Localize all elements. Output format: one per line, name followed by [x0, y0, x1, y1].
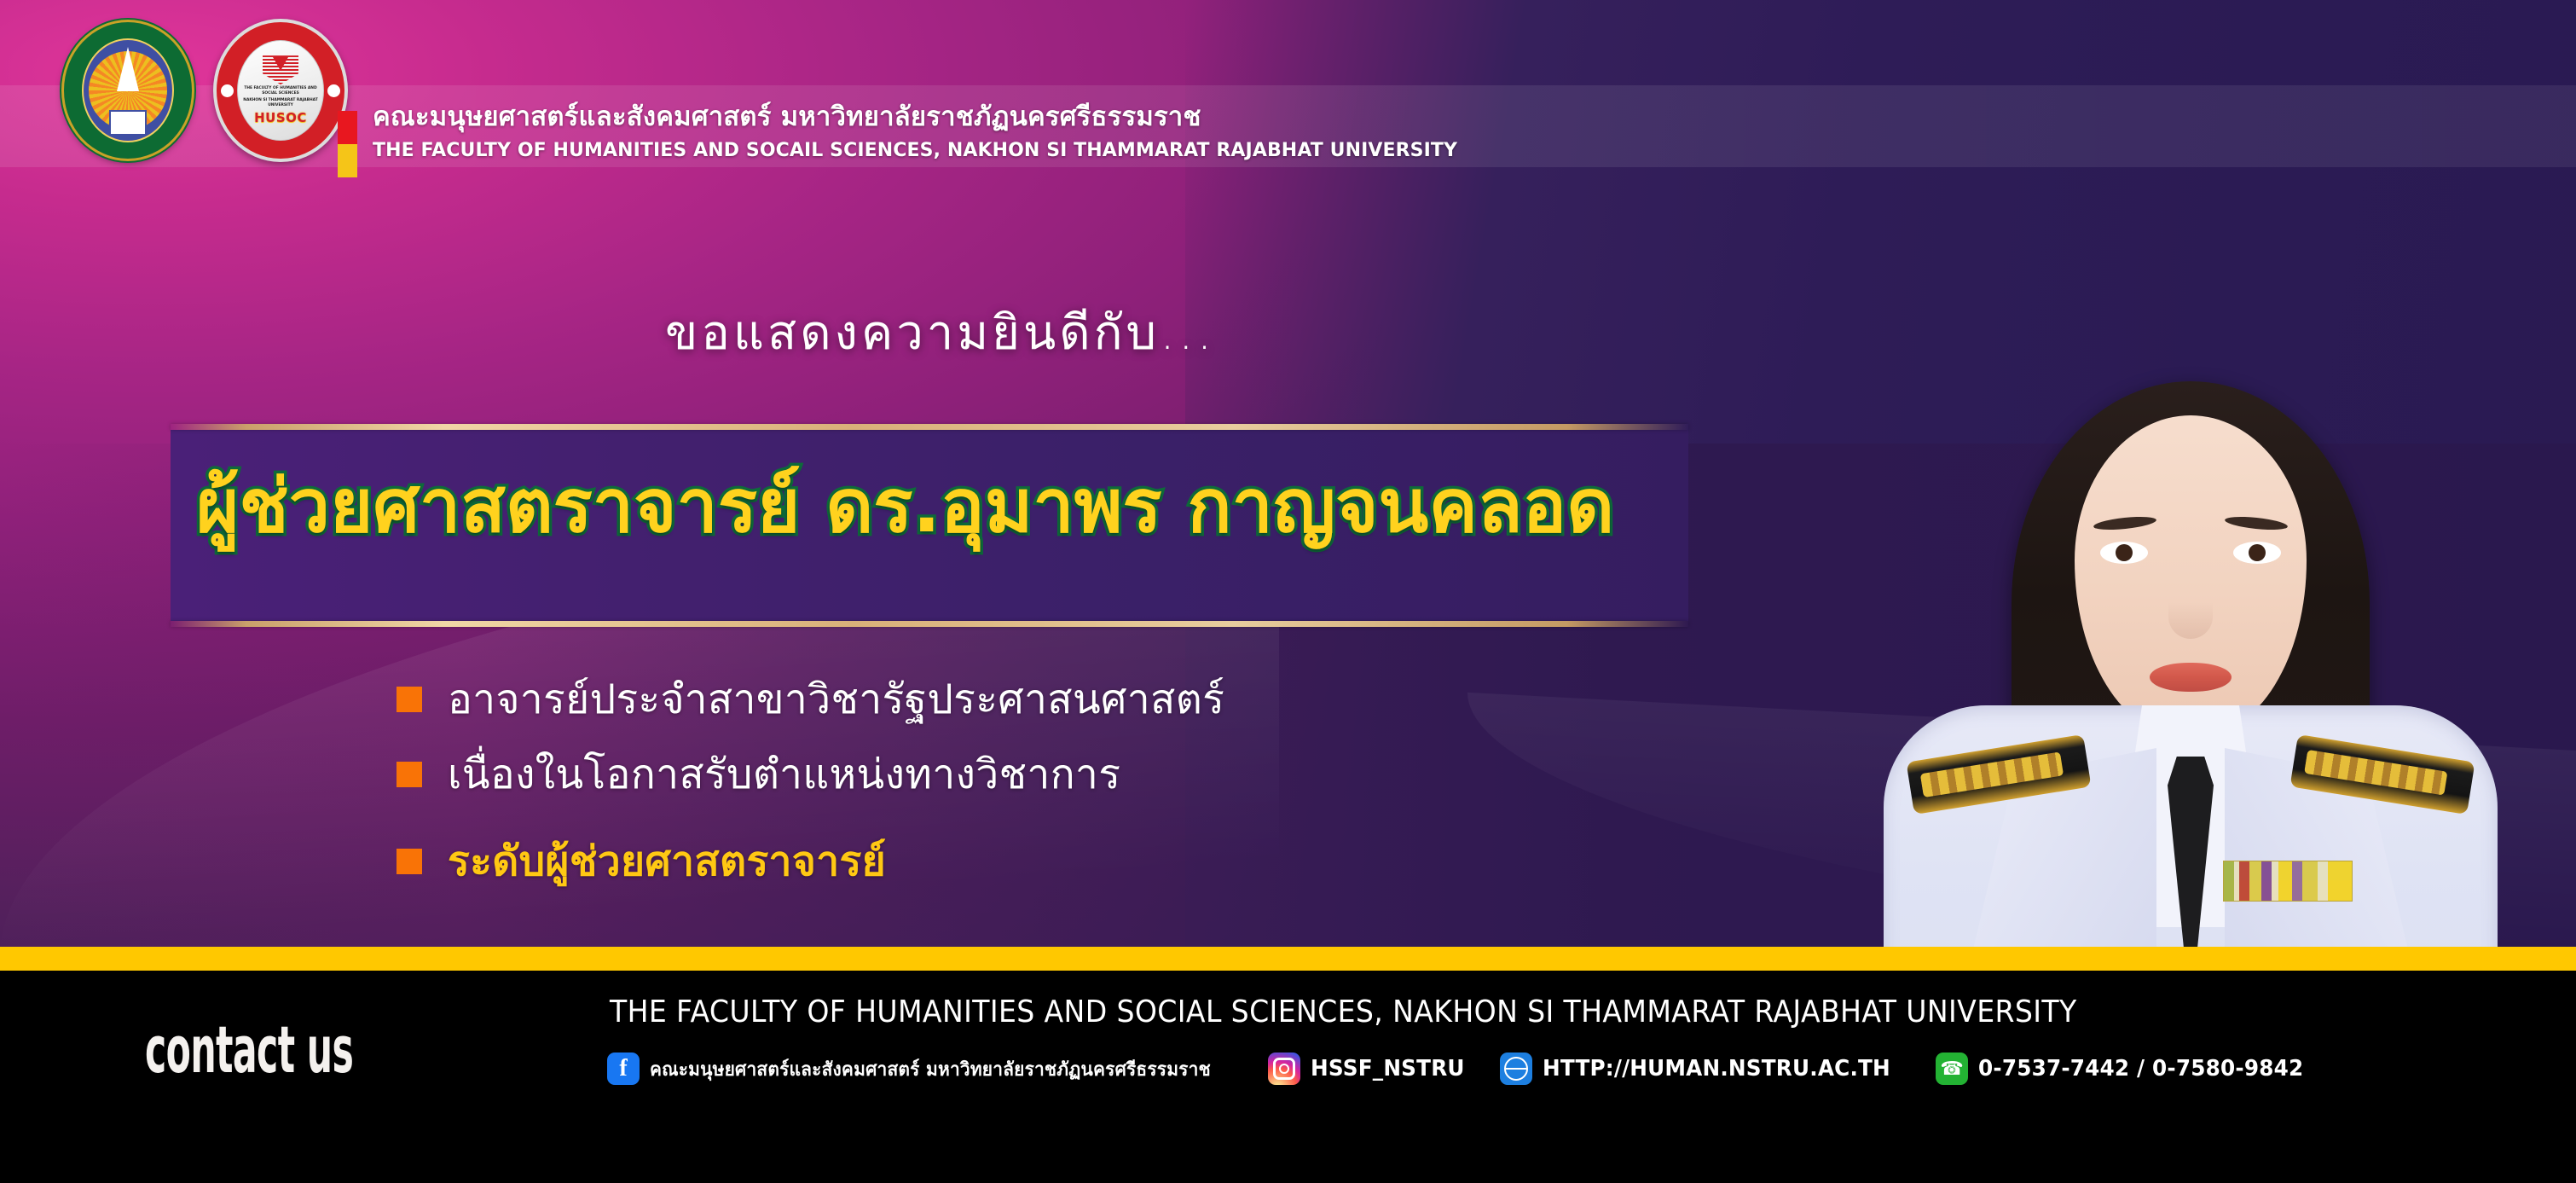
- footer: contact us THE FACULTY OF HUMANITIES AND…: [0, 971, 2576, 1183]
- bullet-label: อาจารย์ประจำสาขาวิชารัฐประศาสนศาสตร์: [448, 667, 1224, 732]
- bullet-list: อาจารย์ประจำสาขาวิชารัฐประศาสนศาสตร์ เนื…: [397, 667, 1224, 904]
- gold-rule-top: [171, 424, 1688, 430]
- bullet-square-icon: [397, 687, 422, 712]
- list-item: เนื่องในโอกาสรับตำแหน่งทางวิชาการ: [397, 742, 1224, 807]
- husoc-emblem-icon: [263, 55, 298, 84]
- congratulation-line: ขอแสดงความยินดีกับ...: [665, 294, 1215, 370]
- contact-instagram[interactable]: HSSF_NSTRU: [1268, 1053, 1473, 1085]
- instagram-label: HSSF_NSTRU: [1311, 1056, 1465, 1082]
- contact-phone[interactable]: ☎ 0-7537-7442 / 0-7580-9842: [1936, 1053, 2320, 1085]
- facebook-label: คณะมนุษยศาสตร์และสังคมศาสตร์ มหาวิทยาลัย…: [650, 1054, 1211, 1084]
- logo-group: THE FACULTY OF HUMANITIES AND SOCIAL SCI…: [61, 19, 348, 162]
- phone-icon[interactable]: ☎: [1936, 1053, 1968, 1085]
- portrait-eye-left: [2100, 542, 2148, 564]
- globe-icon[interactable]: [1500, 1053, 1532, 1085]
- header-thai-title: คณะมนุษยศาสตร์และสังคมศาสตร์ มหาวิทยาลัย…: [373, 102, 1457, 133]
- yellow-divider-bar: [0, 947, 2576, 971]
- portrait-eye-right: [2233, 542, 2281, 564]
- footer-contact-row: f คณะมนุษยศาสตร์และสังคมศาสตร์ มหาวิทยาล…: [607, 1053, 2321, 1085]
- portrait-lips: [2150, 663, 2232, 692]
- husoc-seal-line1: THE FACULTY OF HUMANITIES AND SOCIAL SCI…: [238, 86, 323, 96]
- honoree-name: ผู้ช่วยศาสตราจารย์ ดร.อุมาพร กาญจนคลอด: [196, 447, 1614, 564]
- footer-faculty-line: THE FACULTY OF HUMANITIES AND SOCIAL SCI…: [610, 995, 2077, 1029]
- header-english-title: THE FACULTY OF HUMANITIES AND SOCAIL SCI…: [373, 140, 1457, 162]
- bullet-square-icon: [397, 762, 422, 787]
- bullet-label: เนื่องในโอกาสรับตำแหน่งทางวิชาการ: [448, 742, 1120, 807]
- university-seal-icon: [61, 20, 194, 161]
- list-item: ระดับผู้ช่วยศาสตราจารย์: [397, 829, 1224, 894]
- portrait-medal-ribbons: [2223, 861, 2353, 902]
- bullet-square-icon: [397, 849, 422, 874]
- phone-label: 0-7537-7442 / 0-7580-9842: [1978, 1056, 2303, 1082]
- contact-website[interactable]: HTTP://HUMAN.NSTRU.AC.TH: [1500, 1053, 1908, 1085]
- contact-facebook[interactable]: f คณะมนุษยศาสตร์และสังคมศาสตร์ มหาวิทยาล…: [607, 1053, 1241, 1085]
- husoc-acronym: HUSOC: [254, 110, 307, 125]
- congratulation-banner: THE FACULTY OF HUMANITIES AND SOCIAL SCI…: [0, 0, 2576, 1183]
- portrait-nose: [2168, 577, 2213, 639]
- list-item: อาจารย์ประจำสาขาวิชารัฐประศาสนศาสตร์: [397, 667, 1224, 732]
- husoc-seal-line2: NAKHON SI THAMMARAT RAJABHAT UNIVERSITY: [238, 98, 323, 108]
- gold-rule-bottom: [171, 621, 1688, 627]
- website-label: HTTP://HUMAN.NSTRU.AC.TH: [1543, 1056, 1890, 1082]
- header-text-block: คณะมนุษยศาสตร์และสังคมศาสตร์ มหาวิทยาลัย…: [373, 102, 1457, 162]
- red-yellow-accent-bar: [338, 111, 357, 177]
- instagram-icon[interactable]: [1268, 1053, 1300, 1085]
- husoc-seal-icon: THE FACULTY OF HUMANITIES AND SOCIAL SCI…: [213, 19, 348, 162]
- contact-us-heading: contact us: [145, 1012, 353, 1087]
- facebook-icon[interactable]: f: [607, 1053, 640, 1085]
- bullet-label: ระดับผู้ช่วยศาสตราจารย์: [448, 829, 886, 894]
